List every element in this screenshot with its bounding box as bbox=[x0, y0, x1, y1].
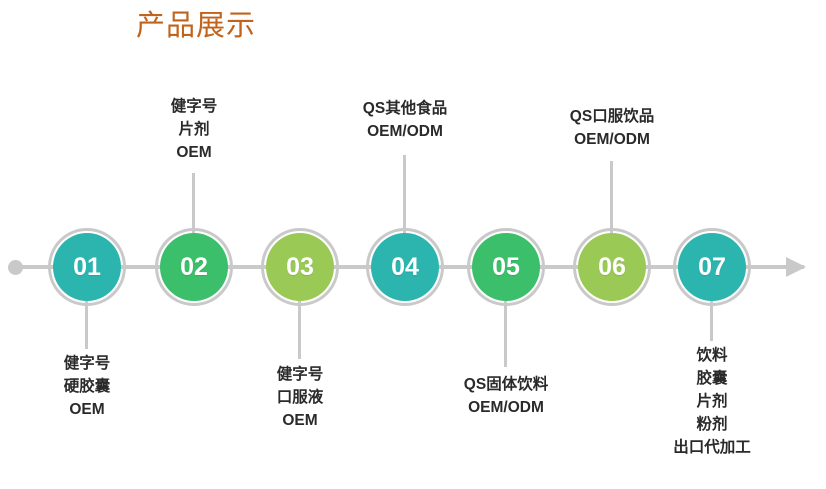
node-label-line: QS口服饮品 bbox=[502, 105, 722, 128]
timeline-arrow-right-icon bbox=[786, 257, 806, 277]
node-label-02: 健字号片剂OEM bbox=[84, 95, 304, 164]
node-label-03: 健字号口服液OEM bbox=[190, 363, 410, 432]
node-label-05: QS固体饮料OEM/ODM bbox=[396, 373, 616, 419]
node-label-line: OEM/ODM bbox=[295, 120, 515, 143]
node-number-03: 03 bbox=[286, 255, 314, 280]
node-label-line: 胶囊 bbox=[602, 367, 822, 390]
node-label-line: OEM bbox=[0, 398, 197, 421]
node-number-02: 02 bbox=[180, 255, 208, 280]
node-stem-07 bbox=[710, 301, 713, 341]
node-number-04: 04 bbox=[391, 255, 419, 280]
node-label-line: OEM/ODM bbox=[396, 396, 616, 419]
node-number-01: 01 bbox=[73, 255, 101, 280]
node-disc-02[interactable]: 02 bbox=[160, 233, 228, 301]
node-stem-01 bbox=[85, 301, 88, 349]
node-disc-04[interactable]: 04 bbox=[371, 233, 439, 301]
node-label-line: 粉剂 bbox=[602, 413, 822, 436]
node-disc-03[interactable]: 03 bbox=[266, 233, 334, 301]
timeline-node-06[interactable]: 06 bbox=[578, 233, 646, 301]
node-label-line: 饮料 bbox=[602, 344, 822, 367]
node-label-line: 健字号 bbox=[190, 363, 410, 386]
node-stem-04 bbox=[403, 155, 406, 233]
node-disc-01[interactable]: 01 bbox=[53, 233, 121, 301]
page-title: 产品展示 bbox=[136, 6, 256, 46]
timeline-node-04[interactable]: 04 bbox=[371, 233, 439, 301]
timeline-node-01[interactable]: 01 bbox=[53, 233, 121, 301]
node-stem-02 bbox=[192, 173, 195, 233]
node-number-05: 05 bbox=[492, 255, 520, 280]
timeline-node-03[interactable]: 03 bbox=[266, 233, 334, 301]
node-label-line: QS固体饮料 bbox=[396, 373, 616, 396]
node-label-line: 出口代加工 bbox=[602, 436, 822, 459]
node-label-line: 硬胶囊 bbox=[0, 375, 197, 398]
node-label-line: OEM bbox=[84, 141, 304, 164]
node-label-line: QS其他食品 bbox=[295, 97, 515, 120]
timeline-node-02[interactable]: 02 bbox=[160, 233, 228, 301]
node-stem-06 bbox=[610, 161, 613, 233]
node-number-07: 07 bbox=[698, 255, 726, 280]
node-label-line: OEM/ODM bbox=[502, 128, 722, 151]
node-label-line: 健字号 bbox=[84, 95, 304, 118]
timeline-start-dot bbox=[8, 260, 23, 275]
timeline-node-05[interactable]: 05 bbox=[472, 233, 540, 301]
timeline-node-07[interactable]: 07 bbox=[678, 233, 746, 301]
node-disc-07[interactable]: 07 bbox=[678, 233, 746, 301]
node-label-06: QS口服饮品OEM/ODM bbox=[502, 105, 722, 151]
node-stem-05 bbox=[504, 301, 507, 367]
node-label-01: 健字号硬胶囊OEM bbox=[0, 352, 197, 421]
node-label-line: 口服液 bbox=[190, 386, 410, 409]
node-disc-06[interactable]: 06 bbox=[578, 233, 646, 301]
node-label-04: QS其他食品OEM/ODM bbox=[295, 97, 515, 143]
node-label-line: OEM bbox=[190, 409, 410, 432]
node-label-line: 片剂 bbox=[602, 390, 822, 413]
node-label-07: 饮料胶囊片剂粉剂出口代加工 bbox=[602, 344, 822, 459]
node-label-line: 健字号 bbox=[0, 352, 197, 375]
node-stem-03 bbox=[298, 301, 301, 359]
node-disc-05[interactable]: 05 bbox=[472, 233, 540, 301]
node-number-06: 06 bbox=[598, 255, 626, 280]
product-showcase-timeline: 产品展示 01020304050607 健字号硬胶囊OEM健字号片剂OEM健字号… bbox=[0, 0, 826, 489]
node-label-line: 片剂 bbox=[84, 118, 304, 141]
